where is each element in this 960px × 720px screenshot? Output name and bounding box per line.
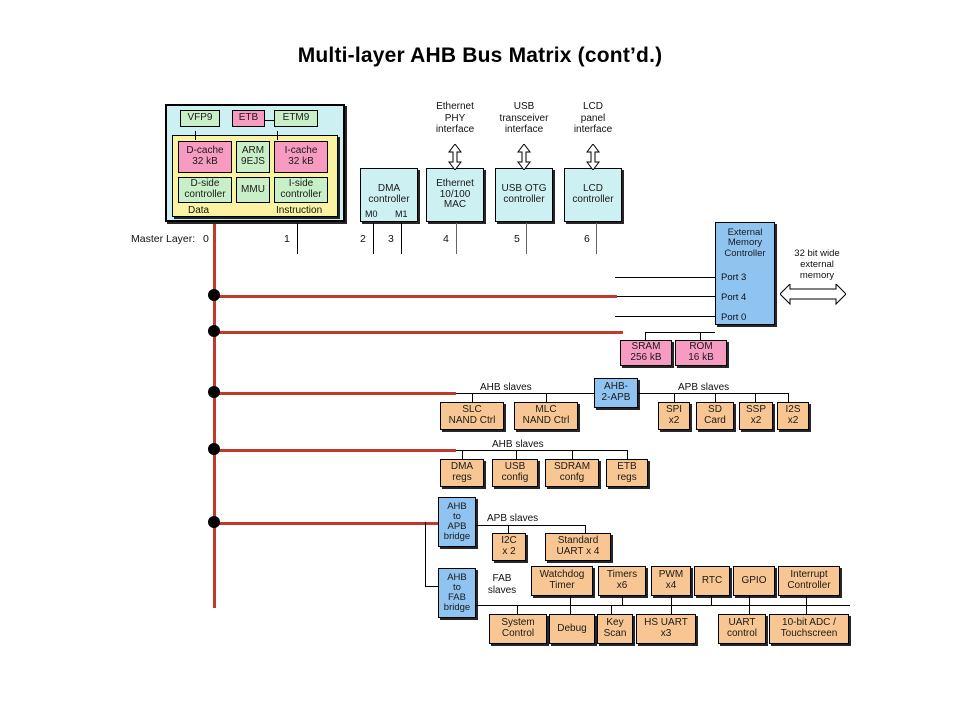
label-apb-slaves-top: APB slaves	[678, 382, 729, 393]
block-ssp: SSP x2	[739, 402, 773, 430]
bus-node-3	[208, 386, 220, 398]
block-system-control: System Control	[489, 614, 547, 644]
block-uart-control: UART control	[718, 614, 766, 644]
emc-port4-line	[617, 296, 715, 297]
apb-slaves-spine	[638, 393, 788, 394]
label-emc-port-3: Port 3	[721, 272, 746, 283]
label-ethernet-phy-interface: Ethernet PHY interface	[415, 101, 495, 136]
lcd-panel-arrow-icon	[585, 144, 601, 170]
ahb-regs-spine	[456, 450, 628, 451]
block-sram: SRAM 256 kB	[620, 340, 672, 366]
pwm-drop	[671, 595, 672, 605]
block-d-cache: D-cache 32 kB	[178, 141, 232, 173]
page-title: Multi-layer AHB Bus Matrix (cont’d.)	[0, 44, 960, 68]
master-tick-6	[596, 223, 597, 254]
label-emc-port-4: Port 4	[721, 292, 746, 303]
label-master-layer: Master Layer:	[131, 233, 195, 245]
block-rtc: RTC	[694, 566, 730, 596]
block-arm9ejs: ARM 9EJS	[236, 141, 270, 173]
fab-bridge-feed-vertical	[425, 522, 426, 586]
label-emc-port-0: Port 0	[721, 312, 746, 323]
block-gpio: GPIO	[733, 566, 775, 596]
label-usb-transceiver-interface: USB transceiver interface	[484, 101, 564, 136]
block-timers: Timers x6	[598, 566, 646, 596]
label-apb-slaves-bridge: APB slaves	[487, 513, 538, 524]
block-ahb-to-fab-bridge: AHB to FAB bridge	[438, 568, 476, 618]
master-number-2: 2	[360, 233, 366, 245]
block-vfp9: VFP9	[180, 110, 220, 127]
keyscan-drop	[611, 605, 612, 614]
block-watchdog-timer: Watchdog Timer	[531, 566, 593, 596]
block-slc-nand-ctrl: SLC NAND Ctrl	[440, 402, 504, 430]
debug-drop	[570, 605, 571, 614]
master-tick-2	[373, 223, 374, 254]
block-etb: ETB	[232, 110, 265, 127]
block-key-scan: Key Scan	[597, 614, 633, 644]
label-instruction-band: Instruction	[276, 205, 322, 216]
label-external-memory: 32 bit wide external memory	[778, 249, 856, 282]
block-mlc-nand-ctrl: MLC NAND Ctrl	[514, 402, 578, 430]
vfp9-connector	[195, 131, 196, 140]
etm9-connector	[277, 131, 278, 140]
block-etm9: ETM9	[274, 110, 318, 127]
block-i2s: I2S x2	[777, 402, 809, 430]
block-hs-uart: HS UART x3	[636, 614, 696, 644]
block-usb-otg-controller: USB OTG controller	[495, 168, 553, 222]
emc-port0-line	[615, 316, 715, 317]
block-i-cache: I-cache 32 kB	[274, 141, 328, 173]
interrupt-ctrl-drop	[806, 595, 807, 605]
apb-bridge-spine	[476, 525, 586, 526]
usb-transceiver-arrow-icon	[516, 144, 532, 170]
external-memory-arrow-icon	[780, 284, 846, 312]
bus-node-5	[208, 516, 220, 528]
master-tick-4	[456, 223, 457, 254]
block-d-side-controller: D-side controller	[178, 177, 232, 203]
label-lcd-panel-interface: LCD panel interface	[553, 101, 633, 136]
slide-canvas: Multi-layer AHB Bus Matrix (cont’d.) VFP…	[0, 0, 960, 720]
label-ahb-slaves-regs: AHB slaves	[492, 439, 544, 450]
master-number-5: 5	[514, 233, 520, 245]
block-debug: Debug	[549, 614, 595, 644]
block-rom: ROM 16 kB	[675, 340, 727, 366]
master-number-4: 4	[443, 233, 449, 245]
label-ahb-slaves-nand: AHB slaves	[480, 382, 532, 393]
master-number-6: 6	[584, 233, 590, 245]
block-i-side-controller: I-side controller	[274, 177, 328, 203]
bus-branch-memory	[213, 331, 623, 334]
watchdog-drop	[570, 595, 571, 605]
bus-branch-ahb-slaves-nand	[213, 392, 456, 395]
master-tick-1	[297, 223, 298, 254]
block-interrupt-controller: Interrupt Controller	[778, 566, 840, 596]
block-ahb-to-apb-bridge: AHB to APB bridge	[438, 497, 476, 547]
bus-node-1	[208, 289, 220, 301]
block-pwm: PWM x4	[651, 566, 691, 596]
block-sd-card: SD Card	[696, 402, 734, 430]
block-adc-touchscreen: 10-bit ADC / Touchscreen	[769, 614, 849, 644]
master-tick-3	[401, 223, 402, 254]
block-ahb-2-apb: AHB- 2-APB	[594, 378, 638, 408]
label-fab-slaves: FAB slaves	[483, 573, 521, 596]
master-tick-5	[526, 223, 527, 254]
block-dma-regs: DMA regs	[440, 459, 484, 487]
block-mmu: MMU	[236, 177, 270, 203]
ahb-nand-spine	[456, 393, 596, 394]
master-number-3: 3	[388, 233, 394, 245]
ethernet-phy-arrow-icon	[447, 144, 463, 170]
bus-branch-apb-bridge	[213, 522, 441, 525]
hs-uart-drop	[671, 605, 672, 614]
bus-node-2	[208, 325, 220, 337]
master0-bus-vertical	[213, 224, 216, 608]
bus-branch-ahb-regs	[213, 449, 456, 452]
uart-control-drop	[749, 605, 750, 614]
master-number-1: 1	[284, 233, 290, 245]
block-ethernet-mac: Ethernet 10/100 MAC	[426, 168, 484, 222]
bus-branch-port3	[213, 295, 617, 298]
system-control-drop	[517, 605, 518, 614]
bus-node-4	[208, 443, 220, 455]
block-spi: SPI x2	[658, 402, 690, 430]
label-data-band: Data	[188, 205, 209, 216]
emc-port3-line	[615, 277, 715, 278]
label-dma-m1: M1	[395, 209, 408, 219]
block-i2c: I2C x 2	[492, 533, 526, 561]
label-dma-m0: M0	[365, 209, 378, 219]
master-number-0: 0	[203, 233, 209, 245]
memory-bus-spine	[645, 332, 715, 333]
block-sdram-confg: SDRAM confg	[545, 459, 599, 487]
adc-touchscreen-drop	[806, 605, 807, 614]
timers-drop	[622, 595, 623, 605]
block-lcd-controller: LCD controller	[564, 168, 622, 222]
block-standard-uart: Standard UART x 4	[545, 533, 611, 561]
block-usb-config: USB config	[492, 459, 538, 487]
fab-slaves-spine	[476, 605, 850, 606]
rtc-drop	[711, 595, 712, 605]
block-etb-regs: ETB regs	[606, 459, 648, 487]
gpio-drop	[749, 595, 750, 605]
